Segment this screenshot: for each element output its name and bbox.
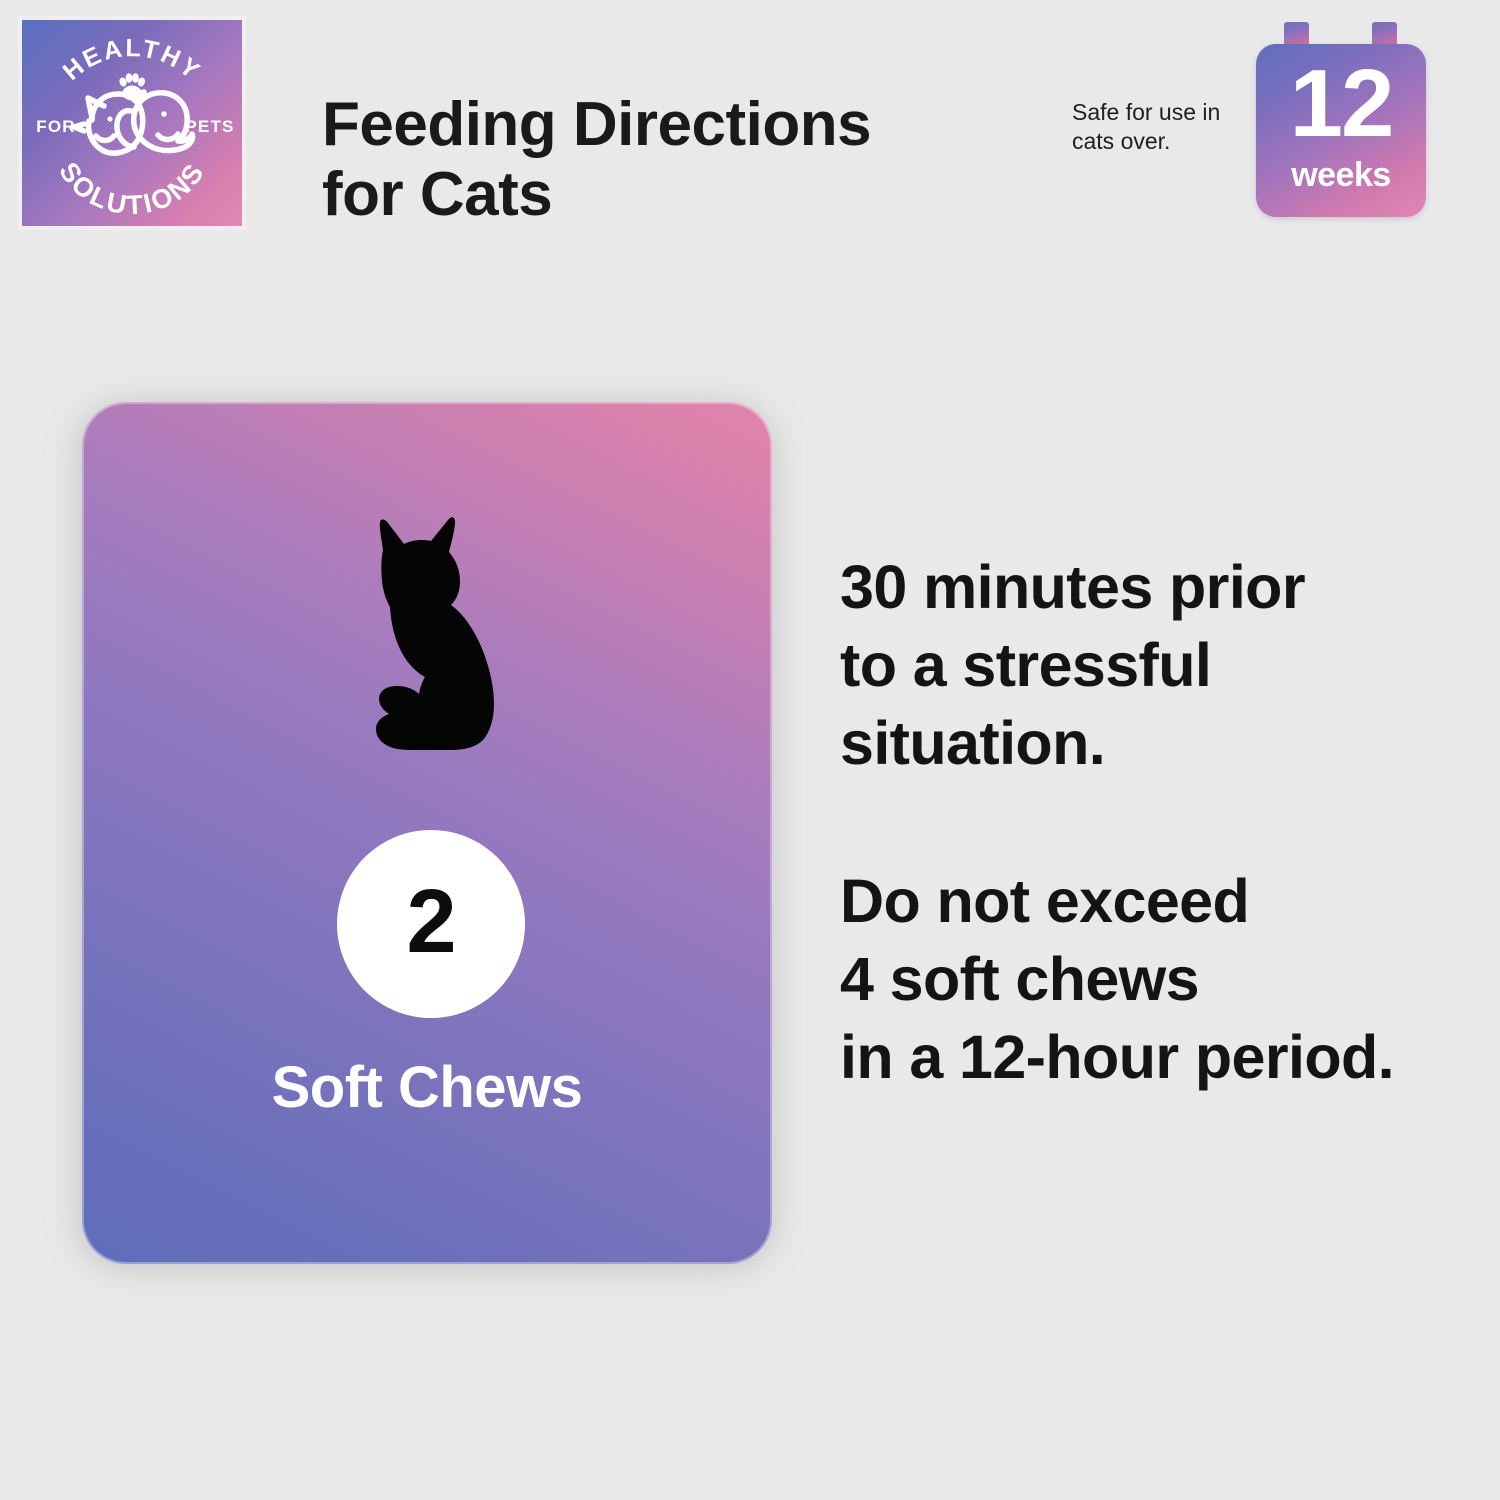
calendar-age-number: 12 (1256, 56, 1426, 152)
dose-card: 2 Soft Chews (82, 402, 772, 1264)
brand-logo: HEALTHY SOLUTIONS (22, 20, 242, 226)
dose-count-number: 2 (406, 877, 455, 967)
dose-unit-label: Soft Chews (82, 1054, 772, 1121)
instruction-block-maximum: Do not exceed 4 soft chews in a 12-hour … (840, 862, 1480, 1096)
calendar-age-unit: weeks (1256, 156, 1426, 195)
safe-use-note-line-1: Safe for use in (1072, 98, 1257, 127)
instruction-line: in a 12-hour period. (840, 1018, 1480, 1096)
svg-text:SOLUTIONS: SOLUTIONS (53, 157, 211, 221)
age-calendar-badge: 12 weeks (1256, 22, 1428, 218)
svg-text:FOR: FOR (36, 117, 75, 136)
instruction-line: to a stressful (840, 626, 1480, 704)
cat-silhouette-icon (350, 514, 520, 764)
safe-use-note: Safe for use in cats over. (1072, 98, 1257, 157)
instruction-line: Do not exceed (840, 862, 1480, 940)
safe-use-note-line-2: cats over. (1072, 127, 1257, 156)
instruction-line: situation. (840, 704, 1480, 782)
page-title-line-1: Feeding Directions (322, 90, 1022, 160)
calendar-body: 12 weeks (1256, 44, 1426, 217)
svg-text:PETS: PETS (185, 117, 234, 136)
page-title: Feeding Directions for Cats (322, 90, 1022, 230)
dose-count-circle: 2 (337, 830, 525, 1018)
instruction-line: 30 minutes prior (840, 548, 1480, 626)
feeding-directions-page: HEALTHY SOLUTIONS (0, 0, 1500, 1500)
instruction-block-timing: 30 minutes prior to a stressful situatio… (840, 548, 1480, 782)
instructions-panel: 30 minutes prior to a stressful situatio… (840, 548, 1480, 1096)
page-title-line-2: for Cats (322, 160, 1022, 230)
instruction-line: 4 soft chews (840, 940, 1480, 1018)
